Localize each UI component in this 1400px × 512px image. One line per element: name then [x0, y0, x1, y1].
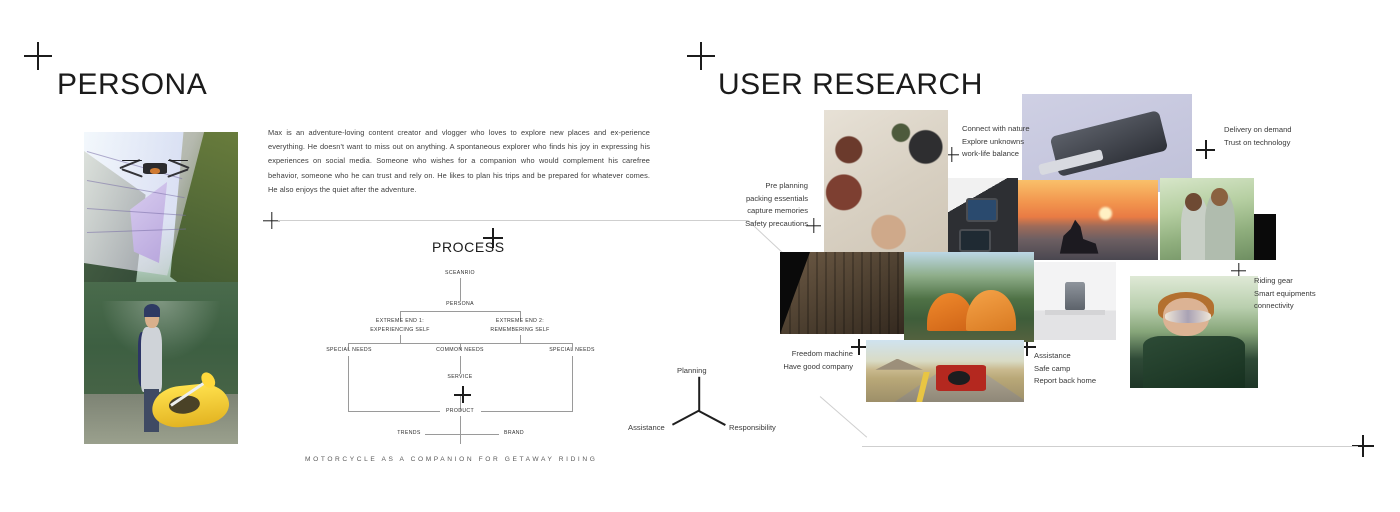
annotation-line: Safe camp	[1034, 363, 1096, 376]
annotation-line: Trust on technology	[1224, 137, 1292, 150]
triad-label-responsibility: Responsibility	[729, 423, 776, 432]
persona-description: Max is an adventure-loving content creat…	[268, 126, 650, 197]
process-node-persona: PERSONA	[408, 301, 512, 307]
triad-label-assistance: Assistance	[628, 423, 665, 432]
plus-marker-process-center	[454, 386, 471, 403]
collage-image-gps-device	[948, 178, 1018, 260]
process-title: PROCESS	[432, 239, 505, 255]
process-node-special-needs-right: SPECIAL NEEDS	[533, 347, 611, 353]
process-connector-left-down	[348, 356, 349, 411]
plus-marker-user-research	[687, 42, 715, 70]
collage-image-smart-speaker	[1034, 262, 1116, 340]
annotation-line: Have good company	[757, 361, 853, 374]
annotation-pre-planning: Pre planning packing essentials capture …	[728, 180, 808, 230]
process-node-scenario: SCEANRIO	[408, 270, 512, 276]
connector-line-top	[278, 220, 748, 221]
collage-image-tents	[904, 252, 1034, 342]
process-connector-common-service	[460, 356, 461, 374]
connector-line-bottom	[862, 446, 1358, 447]
triad-stem-right	[699, 410, 726, 425]
annotation-line: Assistance	[1034, 350, 1096, 363]
process-connector-right-down	[572, 356, 573, 411]
collage-image-couple-phones	[1160, 178, 1254, 260]
collage-image-smart-visor	[1130, 276, 1258, 388]
annotation-assistance: Assistance Safe camp Report back home	[1034, 350, 1096, 388]
annotation-line: connectivity	[1254, 300, 1316, 313]
process-node-product: PRODUCT	[421, 408, 499, 414]
plus-marker-pre-planning	[806, 218, 821, 233]
process-node-extreme-end-1-value: EXPERIENCING SELF	[350, 327, 450, 333]
process-node-service: SERVICE	[421, 374, 499, 380]
annotation-line: Connect with nature	[962, 123, 1030, 136]
annotation-line: Delivery on demand	[1224, 124, 1292, 137]
collage-image-adventure-flatlay	[824, 110, 948, 252]
triad-stem-top	[698, 377, 700, 411]
process-node-special-needs-left: SPECIAL NEEDS	[310, 347, 388, 353]
annotation-line: Explore unknowns	[962, 136, 1030, 149]
annotation-line: work-life balance	[962, 148, 1030, 161]
process-node-brand: BRAND	[493, 430, 535, 436]
page-title-user-research: USER RESEARCH	[718, 68, 983, 102]
annotation-line: Safety precautions	[728, 218, 808, 231]
triad-stem-left	[672, 410, 699, 425]
connector-line-diagonal-lower	[820, 396, 868, 438]
process-node-common-needs: COMMON NEEDS	[421, 347, 499, 353]
process-node-extreme-end-2-value: REMEMBERING SELF	[470, 327, 570, 333]
process-caption: MOTORCYCLE AS A COMPANION FOR GETAWAY RI…	[305, 456, 597, 463]
collage-black-wedge-right	[1254, 214, 1276, 260]
process-connector-trends-brand	[425, 434, 499, 435]
annotation-delivery-on-demand: Delivery on demand Trust on technology	[1224, 124, 1292, 149]
annotation-riding-gear: Riding gear Smart equipments connectivit…	[1254, 275, 1316, 313]
annotation-line: Freedom machine	[757, 348, 853, 361]
annotation-line: packing essentials	[728, 193, 808, 206]
process-connector-ee1-down	[400, 335, 401, 343]
process-node-extreme-end-1-title: EXTREME END 1:	[350, 318, 450, 324]
process-connector-persona-bar	[400, 311, 520, 312]
annotation-connect-with-nature: Connect with nature Explore unknowns wor…	[962, 123, 1030, 161]
triad-label-planning: Planning	[677, 366, 707, 375]
process-node-extreme-end-2-title: EXTREME END 2:	[470, 318, 570, 324]
plus-marker-persona	[24, 42, 52, 70]
annotation-line: Pre planning	[728, 180, 808, 193]
collage-image-sunset-lounger	[1018, 180, 1158, 260]
plus-marker-freedom	[851, 339, 867, 355]
annotation-line: Riding gear	[1254, 275, 1316, 288]
drone-hero-overlay-icon	[122, 155, 188, 185]
annotation-line: Report back home	[1034, 375, 1096, 388]
annotation-line: Smart equipments	[1254, 288, 1316, 301]
process-connector-product-down	[460, 416, 461, 444]
annotation-freedom-machine: Freedom machine Have good company	[757, 348, 853, 373]
collage-image-jeep-road	[866, 340, 1024, 402]
process-connector-ee2-down	[520, 335, 521, 343]
page-title-persona: PERSONA	[57, 68, 207, 102]
plus-marker-delivery	[1196, 140, 1215, 159]
annotation-line: capture memories	[728, 205, 808, 218]
process-node-trends: TRENDS	[388, 430, 430, 436]
process-connector-scenario-persona	[460, 278, 461, 301]
